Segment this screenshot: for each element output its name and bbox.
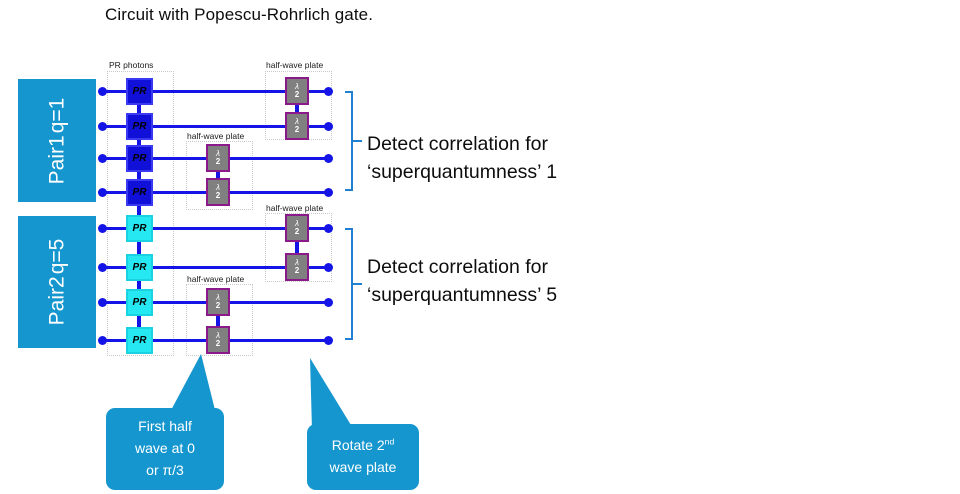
half-wave-plate-4[interactable]: λ 2 bbox=[206, 178, 230, 206]
output-terminal-1 bbox=[324, 87, 333, 96]
annotation-superquantumness-2: Detect correlation for ‘superquantumness… bbox=[367, 254, 557, 309]
hwp-group-label-top-mid: half-wave plate bbox=[187, 131, 244, 141]
output-terminal-7 bbox=[324, 298, 333, 307]
half-wave-plate-6[interactable]: λ 2 bbox=[285, 253, 309, 281]
pr-gate-1-label: PR bbox=[133, 86, 147, 97]
annotation-1-line-2: ‘superquantumness’ 1 bbox=[367, 159, 557, 187]
half-wave-plate-8[interactable]: λ 2 bbox=[206, 326, 230, 354]
pr-gate-6-label: PR bbox=[133, 262, 147, 273]
input-terminal-5 bbox=[98, 224, 107, 233]
bracket-2-bottom-arm bbox=[345, 338, 353, 340]
pr-photons-group-label: PR photons bbox=[109, 60, 153, 70]
pair-label-2-text: q=5 Pair2 bbox=[45, 239, 69, 326]
input-terminal-8 bbox=[98, 336, 107, 345]
hwp-group-label-bottom-mid: half-wave plate bbox=[187, 274, 244, 284]
pr-gate-3-label: PR bbox=[133, 153, 147, 164]
pr-gate-4-label: PR bbox=[133, 187, 147, 198]
pr-gate-1[interactable]: PR bbox=[126, 78, 153, 105]
half-wave-plate-2[interactable]: λ 2 bbox=[285, 112, 309, 140]
pr-gate-4[interactable]: PR bbox=[126, 179, 153, 206]
pr-gate-7-label: PR bbox=[133, 297, 147, 308]
half-wave-plate-1[interactable]: λ 2 bbox=[285, 77, 309, 105]
half-wave-plate-5[interactable]: λ 2 bbox=[285, 214, 309, 242]
hwp-7-two: 2 bbox=[216, 302, 220, 310]
output-terminal-4 bbox=[324, 188, 333, 197]
hwp-group-label-top-right: half-wave plate bbox=[266, 60, 323, 70]
hwp-2-two: 2 bbox=[295, 126, 299, 134]
pr-gate-7[interactable]: PR bbox=[126, 289, 153, 316]
pr-gate-2-label: PR bbox=[133, 121, 147, 132]
slide-canvas: Circuit with Popescu-Rohrlich gate. q=1 … bbox=[0, 0, 960, 494]
callout-2-line-1-text: Rotate 2 bbox=[332, 437, 385, 453]
input-terminal-1 bbox=[98, 87, 107, 96]
pair-1-name: Pair1 bbox=[45, 135, 69, 184]
input-terminal-6 bbox=[98, 263, 107, 272]
pair-label-box-2[interactable]: q=5 Pair2 bbox=[18, 216, 96, 348]
hwp-8-two: 2 bbox=[216, 340, 220, 348]
callout-rotate-second-plate[interactable]: Rotate 2nd wave plate bbox=[292, 352, 422, 494]
hwp-5-two: 2 bbox=[295, 228, 299, 236]
callout-2-ordinal-suffix: nd bbox=[385, 437, 395, 447]
page-title: Circuit with Popescu-Rohrlich gate. bbox=[105, 5, 373, 25]
pair-label-box-1[interactable]: q=1 Pair1 bbox=[18, 79, 96, 202]
callout-1-bubble[interactable]: First half wave at 0 or π/3 bbox=[106, 408, 224, 490]
pair-1-q: q=1 bbox=[45, 97, 69, 133]
output-terminal-8 bbox=[324, 336, 333, 345]
pair-2-name: Pair2 bbox=[45, 276, 69, 325]
callout-1-line-1: First half bbox=[138, 416, 192, 438]
half-wave-plate-3[interactable]: λ 2 bbox=[206, 144, 230, 172]
hwp-group-label-bottom-right: half-wave plate bbox=[266, 203, 323, 213]
bracket-2-pointer bbox=[353, 283, 362, 285]
pr-gate-3[interactable]: PR bbox=[126, 145, 153, 172]
bracket-pair-2 bbox=[345, 228, 365, 340]
hwp-4-two: 2 bbox=[216, 192, 220, 200]
half-wave-plate-7[interactable]: λ 2 bbox=[206, 288, 230, 316]
annotation-2-line-2: ‘superquantumness’ 5 bbox=[367, 282, 557, 310]
callout-first-half-wave[interactable]: First half wave at 0 or π/3 bbox=[106, 352, 226, 494]
input-terminal-3 bbox=[98, 154, 107, 163]
callout-2-line-1: Rotate 2nd bbox=[332, 435, 395, 457]
pr-gate-2[interactable]: PR bbox=[126, 113, 153, 140]
annotation-superquantumness-1: Detect correlation for ‘superquantumness… bbox=[367, 131, 557, 186]
pr-gate-8[interactable]: PR bbox=[126, 327, 153, 354]
hwp-6-two: 2 bbox=[295, 267, 299, 275]
pr-gate-5[interactable]: PR bbox=[126, 215, 153, 242]
input-terminal-2 bbox=[98, 122, 107, 131]
pr-gate-8-label: PR bbox=[133, 335, 147, 346]
pr-gate-5-label: PR bbox=[133, 223, 147, 234]
bracket-1-bottom-arm bbox=[345, 189, 353, 191]
bracket-pair-1 bbox=[345, 91, 365, 191]
hwp-3-two: 2 bbox=[216, 158, 220, 166]
callout-1-line-3: or π/3 bbox=[146, 460, 184, 482]
pair-label-1-text: q=1 Pair1 bbox=[45, 97, 69, 184]
callout-2-line-2: wave plate bbox=[330, 457, 397, 479]
output-terminal-6 bbox=[324, 263, 333, 272]
pair-2-q: q=5 bbox=[45, 239, 69, 275]
callout-2-bubble[interactable]: Rotate 2nd wave plate bbox=[307, 424, 419, 490]
pr-gate-6[interactable]: PR bbox=[126, 254, 153, 281]
output-terminal-2 bbox=[324, 122, 333, 131]
bracket-1-pointer bbox=[353, 140, 362, 142]
output-terminal-5 bbox=[324, 224, 333, 233]
output-terminal-3 bbox=[324, 154, 333, 163]
annotation-2-line-1: Detect correlation for bbox=[367, 254, 557, 282]
hwp-1-two: 2 bbox=[295, 91, 299, 99]
callout-1-line-2: wave at 0 bbox=[135, 438, 195, 460]
input-terminal-7 bbox=[98, 298, 107, 307]
annotation-1-line-1: Detect correlation for bbox=[367, 131, 557, 159]
input-terminal-4 bbox=[98, 188, 107, 197]
